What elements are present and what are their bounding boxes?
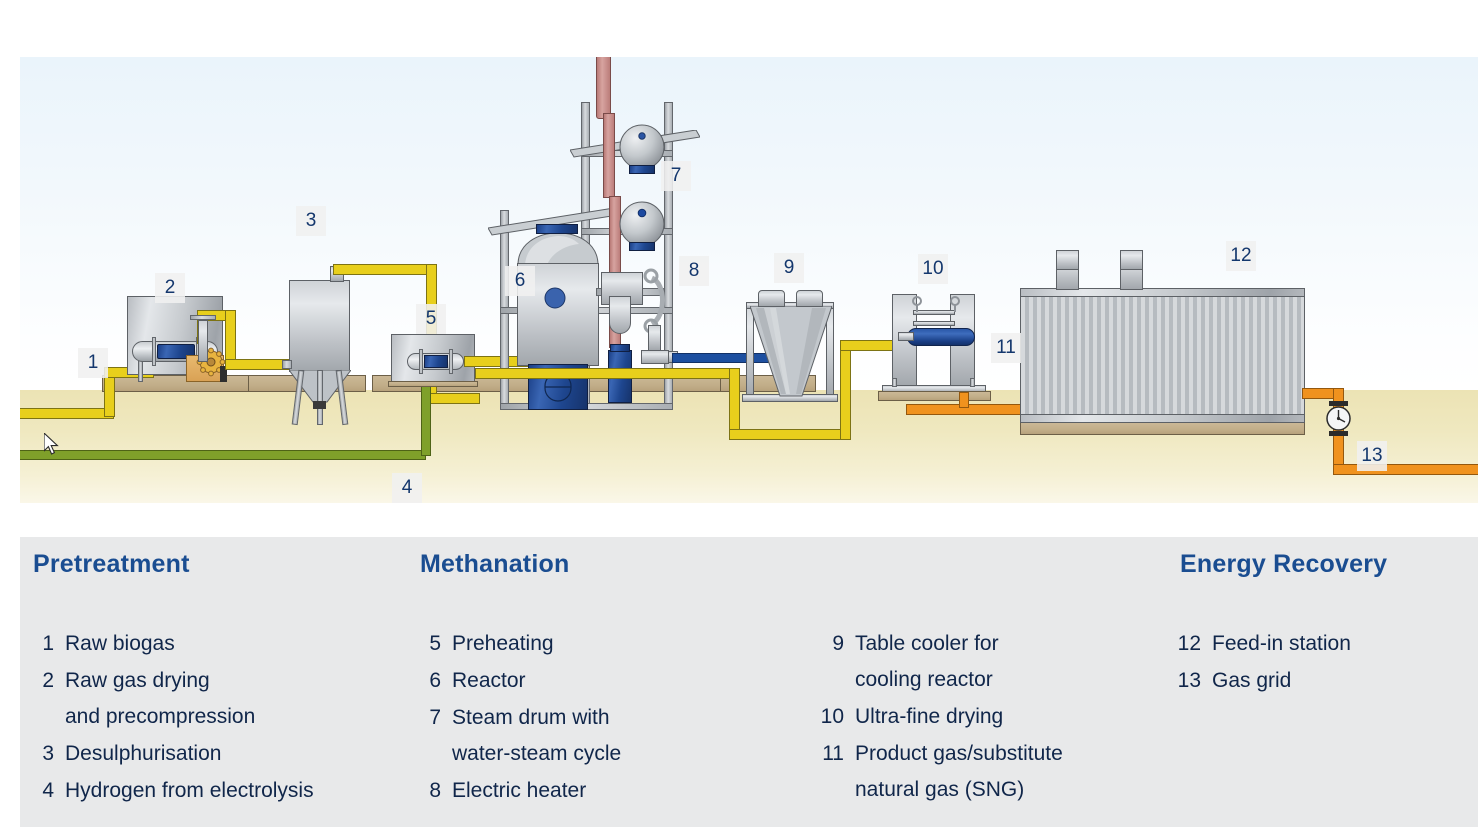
preheater-flange-left	[419, 349, 423, 374]
legend-item-text: Raw gas drying and precompression	[65, 663, 255, 735]
legend-item-text: Feed-in station	[1212, 626, 1351, 662]
stack-pipe-upper	[603, 113, 615, 198]
legend-item-text: Table cooler for cooling reactor	[855, 626, 999, 698]
reactor-top-flange	[536, 224, 578, 234]
legend-item-number: 1	[20, 626, 54, 662]
legend-item-number: 6	[407, 663, 441, 699]
legend-item-text: Desulphurisation	[65, 736, 221, 772]
drying-crossover-lower	[913, 321, 955, 326]
silo-bottom-valve	[313, 401, 326, 409]
drying-valve-left-icon	[910, 296, 924, 312]
pipe-silo-to-preheat-run	[426, 393, 480, 404]
pipe-cooler-bottom-run	[729, 429, 851, 440]
legend-item: 4 Hydrogen from electrolysis	[20, 773, 314, 809]
drying-leg-left	[892, 378, 897, 387]
drying-exchanger-vessel	[907, 328, 975, 346]
cooler-fan-cowl-right	[796, 290, 823, 307]
legend-item-text: Electric heater	[452, 773, 586, 809]
legend-item-number: 4	[20, 773, 54, 809]
gas-meter-icon	[1326, 406, 1351, 431]
drying-vessel-flange	[898, 332, 914, 341]
diagram-stage: 1 2 3 4 5 6 7 8 9 10 11 12 13	[20, 57, 1478, 503]
legend-item-number: 9	[810, 626, 844, 662]
legend-item-number: 5	[407, 626, 441, 662]
raw-biogas-pipe-horizontal	[20, 408, 114, 419]
legend-item-text: Reactor	[452, 663, 526, 699]
callout-12: 12	[1226, 241, 1256, 271]
drying-valve-right-icon	[948, 296, 962, 312]
callout-4: 4	[392, 473, 422, 503]
stack-pipe-top	[596, 57, 611, 119]
feed-in-station-bottom-rail	[1020, 414, 1305, 423]
legend-item-number: 13	[1167, 663, 1201, 699]
legend-item: 7 Steam drum with water-steam cycle	[407, 700, 621, 772]
steam-drum-lower	[618, 200, 666, 248]
legend-item-text: Gas grid	[1212, 663, 1291, 699]
steam-drum-upper-saddle	[629, 165, 655, 174]
legend-item-text: Ultra-fine drying	[855, 699, 1003, 735]
legend-item-number: 8	[407, 773, 441, 809]
feed-in-stack-left-cap	[1056, 250, 1079, 270]
reactor-manway-icon	[544, 287, 566, 309]
legend-item: 8 Electric heater	[407, 773, 621, 809]
silo-inlet-flange	[282, 360, 292, 369]
hydrogen-pipe-horizontal	[20, 450, 426, 460]
legend-item: 6 Reactor	[407, 663, 621, 699]
knockout-drum-top	[610, 344, 630, 352]
callout-7: 7	[661, 161, 691, 191]
callout-2: 2	[155, 273, 185, 303]
legend-item: 12 Feed-in station	[1167, 626, 1351, 662]
legend-item-number: 2	[20, 663, 54, 699]
pipe-reactor-bottom-run	[475, 368, 740, 379]
legend-item-text: Product gas/substitute natural gas (SNG)	[855, 736, 1063, 808]
legend-item-number: 10	[810, 699, 844, 735]
electric-heater-body	[609, 296, 631, 334]
drying-leg-right	[970, 378, 975, 387]
legend-item: 13 Gas grid	[1167, 663, 1351, 699]
sng-pipe-riser	[959, 392, 969, 408]
legend-item-text: Preheating	[452, 626, 554, 662]
steam-drum-lower-saddle	[629, 242, 655, 251]
gas-grid-pipe-run	[1333, 464, 1478, 475]
control-valve-body	[641, 350, 669, 364]
legend-item-text: Hydrogen from electrolysis	[65, 773, 314, 809]
legend-item: 9 Table cooler for cooling reactor	[810, 626, 1063, 698]
legend-item: 10 Ultra-fine drying	[810, 699, 1063, 735]
feed-in-station	[1020, 288, 1305, 423]
callout-13: 13	[1357, 441, 1387, 471]
process-diagram: 1 2 3 4 5 6 7 8 9 10 11 12 13	[20, 57, 1478, 503]
pipe-cooler-up-riser	[840, 340, 851, 440]
legend-item: 1 Raw biogas	[20, 626, 314, 662]
preheating-skid-base	[388, 381, 478, 387]
legend-column-methanation: Methanation 5 Preheating 6 Reactor 7 Ste…	[407, 537, 817, 827]
legend-item-number: 3	[20, 736, 54, 772]
desulphurisation-silo	[289, 280, 350, 372]
legend-panel: Pretreatment 1 Raw biogas 2 Raw gas dryi…	[20, 537, 1478, 827]
legend-item-text: Steam drum with water-steam cycle	[452, 700, 621, 772]
legend-item-number: 11	[810, 736, 844, 772]
mouse-cursor	[44, 433, 60, 457]
legend-item-number: 12	[1167, 626, 1201, 662]
callout-9: 9	[774, 253, 804, 283]
callout-11: 11	[991, 333, 1021, 363]
control-valve-stem	[648, 325, 661, 351]
feed-in-stack-right-cap	[1120, 250, 1143, 270]
callout-10: 10	[918, 254, 948, 284]
legend-heading-methanation: Methanation	[420, 550, 569, 579]
pipe-silo-to-preheat-top	[333, 264, 437, 275]
callout-3: 3	[296, 206, 326, 236]
skid-outlet-stub	[198, 320, 208, 362]
legend-item: 11 Product gas/substitute natural gas (S…	[810, 736, 1063, 808]
cooler-fan-cowl-left	[758, 290, 785, 307]
preheater-exchanger-core	[424, 355, 448, 368]
gas-meter-flange-bottom	[1329, 431, 1348, 436]
legend-column-methanation-continued: 9 Table cooler for cooling reactor 10 Ul…	[810, 537, 1190, 827]
legend-heading-energy-recovery: Energy Recovery	[1180, 550, 1387, 579]
legend-heading-pretreatment: Pretreatment	[33, 550, 190, 579]
legend-item: 3 Desulphurisation	[20, 736, 314, 772]
steam-drum-upper	[618, 123, 666, 171]
legend-column-energy-recovery: Energy Recovery 12 Feed-in station 13 Ga…	[1167, 537, 1477, 827]
dryer-flange-left	[152, 337, 156, 366]
legend-item-number: 7	[407, 700, 441, 736]
callout-5: 5	[416, 304, 446, 334]
callout-8: 8	[679, 256, 709, 286]
callout-1: 1	[78, 348, 108, 378]
reactor-dome	[517, 232, 599, 266]
legend-item-text: Raw biogas	[65, 626, 175, 662]
legend-column-pretreatment: Pretreatment 1 Raw biogas 2 Raw gas dryi…	[20, 537, 420, 827]
silo-leg-mid	[317, 370, 323, 425]
preheater-flange-right	[449, 349, 453, 374]
foundation-slab-feedin	[1020, 422, 1305, 435]
callout-6: 6	[505, 266, 535, 296]
legend-item: 5 Preheating	[407, 626, 621, 662]
drying-skid-plinth	[878, 391, 991, 401]
legend-item: 2 Raw gas drying and precompression	[20, 663, 314, 735]
table-cooler	[750, 306, 832, 398]
